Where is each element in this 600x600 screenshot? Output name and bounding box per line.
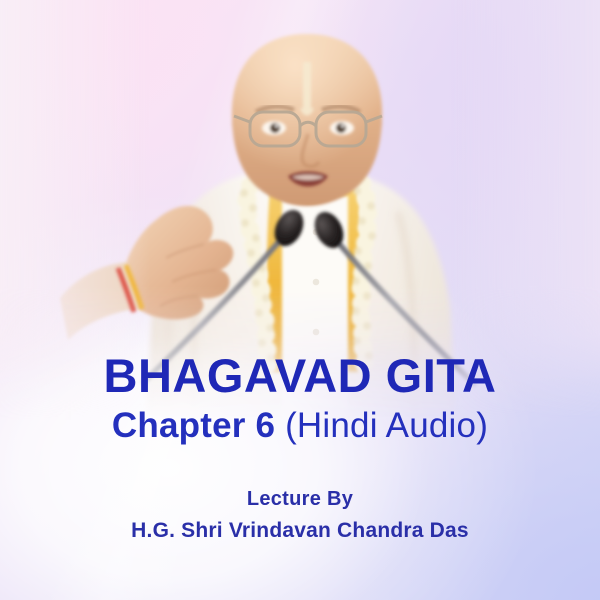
credit-block: Lecture By H.G. Shri Vrindavan Chandra D… [0, 487, 600, 544]
audio-language-label: (Hindi Audio) [285, 406, 488, 445]
subtitle-line: Chapter 6 (Hindi Audio) [0, 407, 600, 445]
chapter-label: Chapter 6 [112, 406, 285, 445]
title-block: BHAGAVAD GITA Chapter 6 (Hindi Audio) [0, 352, 600, 445]
lecture-by-label: Lecture By [0, 487, 600, 512]
poster-canvas: BHAGAVAD GITA Chapter 6 (Hindi Audio) Le… [0, 0, 600, 600]
page-title: BHAGAVAD GITA [0, 352, 600, 401]
speaker-name: H.G. Shri Vrindavan Chandra Das [0, 518, 600, 544]
